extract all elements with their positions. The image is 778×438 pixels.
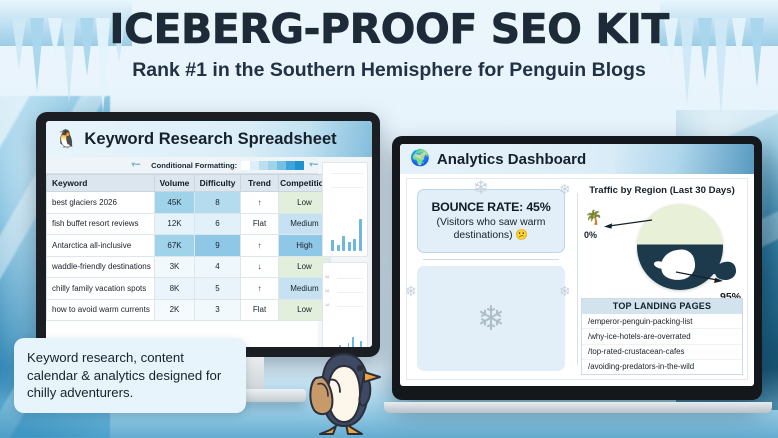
snowflake-icon: ❄ <box>559 181 571 198</box>
dashboard-body: ❄ ❄ ❄ ❄ BOUNCE RATE: 45% (Visitors who s… <box>406 178 748 380</box>
traffic-chart-title: Traffic by Region (Last 30 Days) <box>581 185 743 196</box>
page-subtitle: Rank #1 in the Southern Hemisphere for P… <box>0 59 778 82</box>
cell-trend[interactable]: ↑ <box>241 278 279 300</box>
col-volume[interactable]: Volume <box>155 175 195 192</box>
traffic-pie-chart: 🌴 0% 95% <box>581 198 743 302</box>
cell-trend[interactable]: ↓ <box>241 256 279 278</box>
list-item[interactable]: /emperor-penguin-packing-list <box>582 314 742 329</box>
conditional-formatting-bar: ▾━ Conditional Formatting: ▾━ <box>46 157 318 174</box>
top-landing-pages-list: /emperor-penguin-packing-list /why-ice-h… <box>582 314 742 374</box>
top-landing-pages-card: TOP LANDING PAGES /emperor-penguin-packi… <box>581 298 743 375</box>
cell-keyword[interactable]: fish buffet resort reviews <box>47 213 155 235</box>
spreadsheet-body: ▾━ Conditional Formatting: ▾━ <box>46 157 372 347</box>
cell-trend[interactable]: ↑ <box>241 235 279 257</box>
conditional-formatting-label: Conditional Formatting: <box>145 161 237 170</box>
col-keyword[interactable]: Keyword <box>47 175 155 192</box>
palm-tree-emoji-icon: 🌴 <box>585 210 602 224</box>
list-item[interactable]: /avoiding-predators-in-the-wild <box>582 360 742 374</box>
cell-volume[interactable]: 8K <box>155 278 195 300</box>
top-landing-pages-heading: TOP LANDING PAGES <box>582 299 742 314</box>
keyword-table: Keyword Volume Difficulty Trend Competit… <box>46 174 331 321</box>
table-row: waddle-friendly destinations 3K 4 ↓ Low <box>47 256 331 278</box>
col-trend[interactable]: Trend <box>241 175 279 192</box>
page-title: ICEBERG-PROOF SEO KIT <box>0 8 778 51</box>
dashboard-left-column: ❄ ❄ ❄ ❄ BOUNCE RATE: 45% (Visitors who s… <box>407 179 575 379</box>
cell-keyword[interactable]: how to avoid warm currents <box>47 299 155 321</box>
snowflake-icon: ❄ <box>405 283 417 300</box>
cell-volume[interactable]: 45K <box>155 192 195 214</box>
cell-trend[interactable]: Flat <box>241 299 279 321</box>
table-row: best glaciers 2026 45K 8 ↑ Low <box>47 192 331 214</box>
table-row: fish buffet resort reviews 12K 6 Flat Me… <box>47 213 331 235</box>
penguin-emoji-icon: 🐧 <box>55 130 77 148</box>
bounce-rate-subtext: (Visitors who saw warm destinations) 😕 <box>424 216 558 242</box>
spreadsheet-titlebar: 🐧 Keyword Research Spreadsheet <box>46 121 372 157</box>
list-item[interactable]: /why-ice-hotels-are-overrated <box>582 329 742 344</box>
table-row: chilly family vacation spots 8K 5 ↑ Medi… <box>47 278 331 300</box>
cell-keyword[interactable]: chilly family vacation spots <box>47 278 155 300</box>
dashboard-title: Analytics Dashboard <box>437 151 586 168</box>
cell-difficulty[interactable]: 9 <box>195 235 241 257</box>
snowflake-icon: ❄ <box>559 283 571 300</box>
callout-arrow-right <box>675 268 725 286</box>
caption-card: Keyword research, content calendar & ana… <box>14 338 246 413</box>
desktop-monitor: 🐧 Keyword Research Spreadsheet ▾━ Condit… <box>36 112 380 357</box>
laptop-device: 🌍 Analytics Dashboard ❄ ❄ ❄ ❄ BOUNCE RAT… <box>392 136 778 422</box>
spreadsheet-title: Keyword Research Spreadsheet <box>84 130 336 149</box>
cell-trend[interactable]: Flat <box>241 213 279 235</box>
snowflake-icon: ❄ <box>477 299 506 339</box>
cell-keyword[interactable]: best glaciers 2026 <box>47 192 155 214</box>
cell-volume[interactable]: 2K <box>155 299 195 321</box>
cell-volume[interactable]: 67K <box>155 235 195 257</box>
dashboard-titlebar: 🌍 Analytics Dashboard <box>400 144 754 174</box>
filter-icon[interactable]: ▾━ <box>131 161 140 169</box>
table-row: Antarctica all-inclusive 67K 9 ↑ High <box>47 235 331 257</box>
snowflake-icon: ❄ <box>473 177 489 200</box>
poster-canvas: ICEBERG-PROOF SEO KIT Rank #1 in the Sou… <box>0 0 778 438</box>
bar-chart-panel-1[interactable] <box>322 162 368 257</box>
dashboard-right-column: Traffic by Region (Last 30 Days) 🌴 0% <box>575 179 747 379</box>
cell-difficulty[interactable]: 3 <box>195 299 241 321</box>
conditional-formatting-scale <box>241 161 304 170</box>
cell-trend[interactable]: ↑ <box>241 192 279 214</box>
table-row: how to avoid warm currents 2K 3 Flat Low <box>47 299 331 321</box>
keyword-grid: ▾━ Conditional Formatting: ▾━ <box>46 157 318 347</box>
laptop-base <box>384 402 772 413</box>
horizontal-divider <box>423 259 559 260</box>
poster-header: ICEBERG-PROOF SEO KIT Rank #1 in the Sou… <box>0 8 778 82</box>
cell-difficulty[interactable]: 4 <box>195 256 241 278</box>
cell-volume[interactable]: 3K <box>155 256 195 278</box>
bar-chart-panel-2[interactable]: 3A 2A 1A <box>322 262 368 347</box>
slice-label-tropical: 0% <box>584 230 597 240</box>
caption-text: Keyword research, content calendar & ana… <box>27 349 233 402</box>
table-header-row: Keyword Volume Difficulty Trend Competit… <box>47 175 331 192</box>
snowflake-panel: ❄ <box>417 266 565 371</box>
globe-emoji-icon: 🌍 <box>410 151 430 167</box>
penguin-with-backpack-illustration <box>300 344 386 436</box>
side-chart-panels: 3A 2A 1A <box>318 157 372 347</box>
list-item[interactable]: /top-rated-crustacean-cafes <box>582 345 742 360</box>
cell-keyword[interactable]: waddle-friendly destinations <box>47 256 155 278</box>
cell-difficulty[interactable]: 8 <box>195 192 241 214</box>
callout-arrow-left <box>601 217 653 231</box>
bounce-rate-card: BOUNCE RATE: 45% (Visitors who saw warm … <box>417 189 565 253</box>
cell-difficulty[interactable]: 5 <box>195 278 241 300</box>
cell-volume[interactable]: 12K <box>155 213 195 235</box>
cell-difficulty[interactable]: 6 <box>195 213 241 235</box>
cell-keyword[interactable]: Antarctica all-inclusive <box>47 235 155 257</box>
dashboard-window: 🌍 Analytics Dashboard ❄ ❄ ❄ ❄ BOUNCE RAT… <box>400 144 754 386</box>
col-difficulty[interactable]: Difficulty <box>195 175 241 192</box>
spreadsheet-window: 🐧 Keyword Research Spreadsheet ▾━ Condit… <box>46 121 372 347</box>
filter-icon-2[interactable]: ▾━ <box>309 161 318 169</box>
bounce-rate-headline: BOUNCE RATE: 45% <box>424 200 558 214</box>
